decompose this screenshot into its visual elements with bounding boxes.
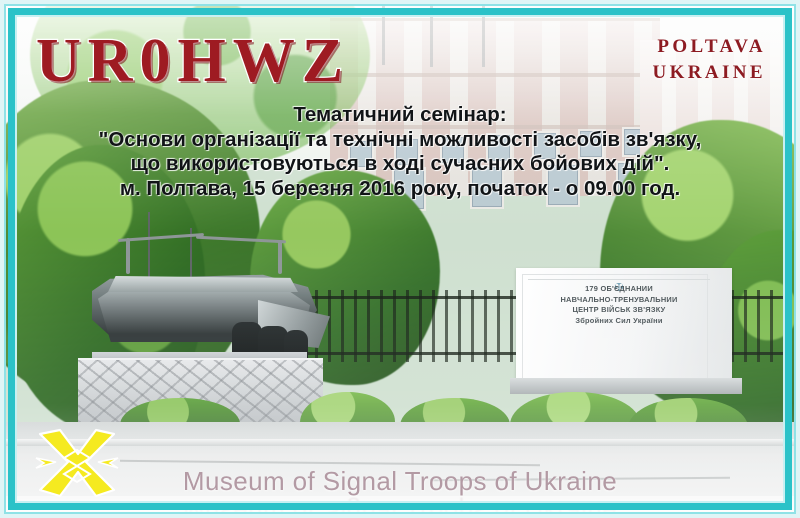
announcement-line-1: Тематичний семінар:: [14, 103, 786, 128]
apc-deck: [108, 276, 298, 292]
sign-line-4: Збройних Сил України: [528, 316, 710, 327]
announcement-text: Тематичний семінар: "Основи організації …: [0, 103, 800, 201]
location-country: UKRAINE: [652, 60, 766, 86]
announcement-line-2: "Основи організації та технічні можливос…: [14, 128, 786, 153]
curb: [0, 439, 800, 446]
sign-plaque-text: 179 ОБ'ЄДНАНИИ НАВЧАЛЬНО-ТРЕНУВАЛЬНИИ ЦЕ…: [528, 284, 710, 326]
sign-line-3: ЦЕНТР ВІЙСЬК ЗВ'ЯЗКУ: [528, 305, 710, 316]
sign-line-1: 179 ОБ'ЄДНАНИИ: [528, 284, 710, 295]
sign-base: [510, 378, 742, 394]
callsign-text: UR0HWZ: [36, 30, 350, 92]
announcement-line-4: м. Полтава, 15 березня 2016 року, почато…: [14, 177, 786, 202]
location-block: POLTAVA UKRAINE: [652, 34, 766, 86]
sign-line-2: НАВЧАЛЬНО-ТРЕНУВАЛЬНИИ: [528, 295, 710, 306]
location-city: POLTAVA: [652, 34, 766, 60]
announcement-line-3: що використовуються в ході сучасних бойо…: [14, 152, 786, 177]
museum-caption: Museum of Signal Troops of Ukraine: [0, 466, 800, 497]
qsl-card: ✠ 179 ОБ'ЄДНАНИИ НАВЧАЛЬНО-ТРЕНУВАЛЬНИИ …: [0, 0, 800, 518]
